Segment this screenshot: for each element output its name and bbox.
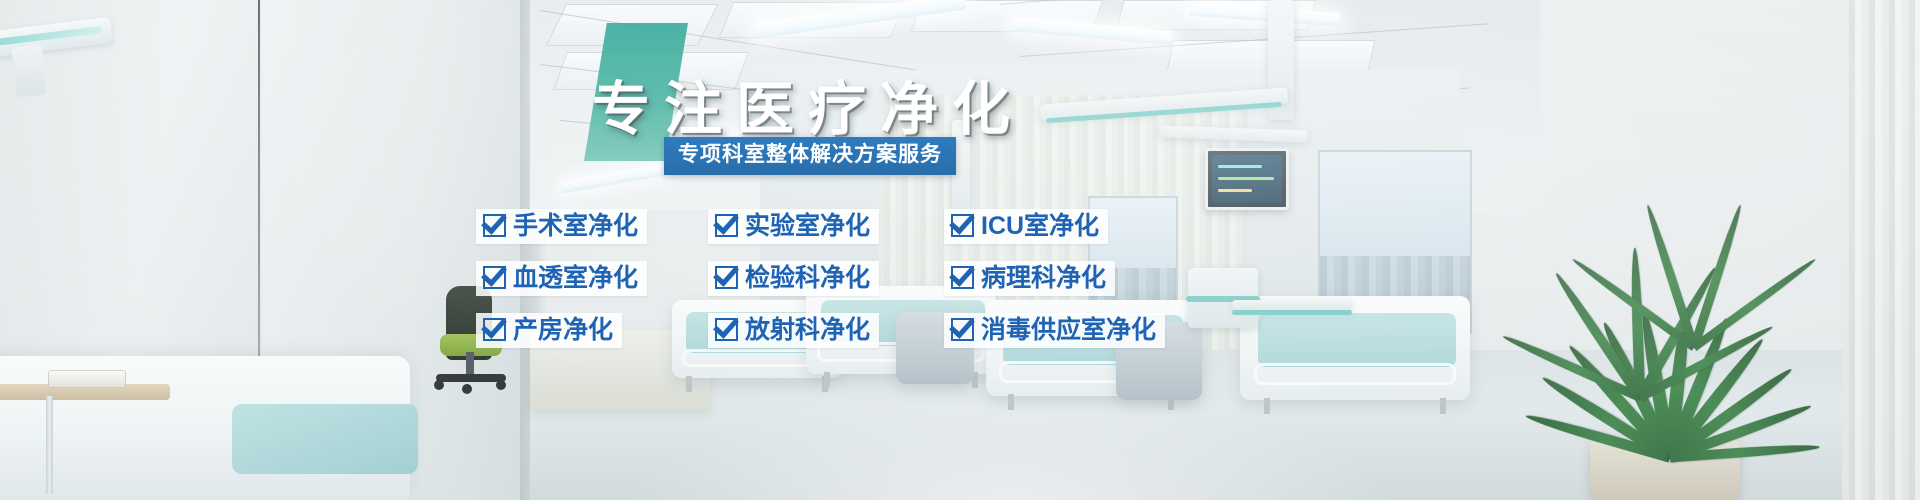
checklist-item-label: 产房净化	[513, 316, 613, 344]
banner-content: 专注医疗净化 专项科室整体解决方案服务 手术室净化 实验室净化 ICU室净化 血…	[0, 0, 1920, 500]
check-icon	[483, 266, 506, 289]
checklist-item-label: 实验室净化	[745, 212, 870, 240]
check-icon	[483, 214, 506, 237]
checklist-item-label: 检验科净化	[745, 264, 870, 292]
checklist-item-label: 血透室净化	[513, 264, 638, 292]
checklist-item-label: 消毒供应室净化	[981, 316, 1156, 344]
checklist-item[interactable]: ICU室净化	[944, 209, 1108, 244]
subtitle-text: 专项科室整体解决方案服务	[678, 143, 942, 167]
check-icon	[951, 214, 974, 237]
checklist-item[interactable]: 消毒供应室净化	[944, 313, 1165, 348]
checklist-item-label: ICU室净化	[981, 212, 1099, 240]
checklist-item[interactable]: 病理科净化	[944, 261, 1115, 296]
checklist-item[interactable]: 放射科净化	[708, 313, 879, 348]
checklist-item-label: 放射科净化	[745, 316, 870, 344]
check-icon	[715, 318, 738, 341]
service-checklist: 手术室净化 实验室净化 ICU室净化 血透室净化 检验科净化 病理科净化	[476, 200, 1165, 356]
checklist-item-label: 病理科净化	[981, 264, 1106, 292]
subtitle-badge: 专项科室整体解决方案服务	[664, 137, 956, 175]
check-icon	[715, 266, 738, 289]
checklist-item-label: 手术室净化	[513, 212, 638, 240]
check-icon	[483, 318, 506, 341]
checklist-item[interactable]: 手术室净化	[476, 209, 647, 244]
checklist-item[interactable]: 产房净化	[476, 313, 622, 348]
check-icon	[951, 266, 974, 289]
hero-banner: 专注医疗净化 专项科室整体解决方案服务 手术室净化 实验室净化 ICU室净化 血…	[0, 0, 1920, 500]
check-icon	[951, 318, 974, 341]
checklist-item[interactable]: 实验室净化	[708, 209, 879, 244]
page-title: 专注医疗净化	[592, 77, 1024, 143]
checklist-item[interactable]: 血透室净化	[476, 261, 647, 296]
check-icon	[715, 214, 738, 237]
checklist-item[interactable]: 检验科净化	[708, 261, 879, 296]
